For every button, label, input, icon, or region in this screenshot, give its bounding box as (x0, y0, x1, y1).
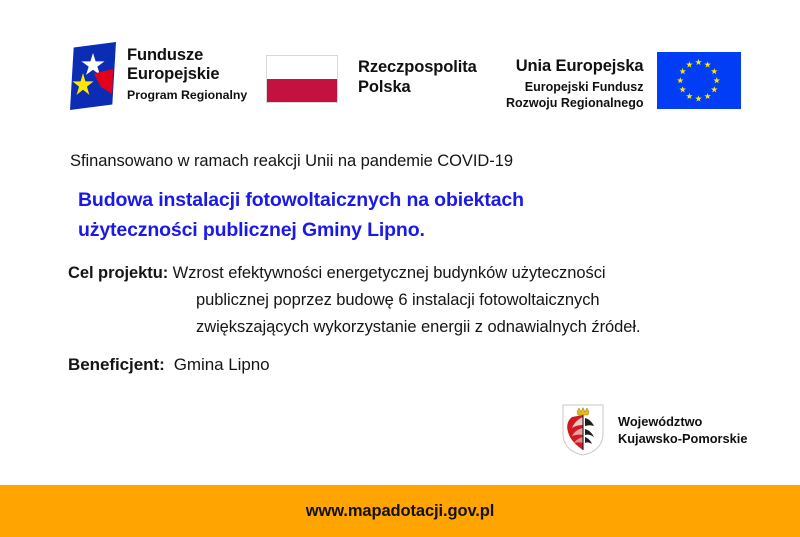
kujawsko-pomorskie-wordmark: Województwo Kujawsko-Pomorskie (618, 413, 747, 447)
voivodeship-line-2: Kujawsko-Pomorskie (618, 430, 747, 447)
ue-line-1: Unia Europejska (506, 56, 644, 76)
eu-star-icon (695, 59, 702, 66)
eu-star-icon (704, 93, 711, 100)
eu-star-icon (679, 86, 686, 93)
fe-line-2: Europejskie (127, 65, 247, 84)
eu-star-icon (677, 77, 684, 84)
fe-line-3: Program Regionalny (127, 87, 247, 103)
kujawsko-pomorskie-coat-of-arms-icon (562, 404, 604, 456)
project-goal-line-2: publicznej poprzez budowę 6 instalacji f… (196, 287, 748, 314)
eu-star-icon (686, 93, 693, 100)
eu-star-icon (695, 95, 702, 102)
project-goal-label: Cel projektu: (68, 264, 168, 282)
page-title: Budowa instalacji fotowoltaicznych na ob… (78, 185, 678, 245)
kujawsko-pomorskie-logo: Województwo Kujawsko-Pomorskie (562, 404, 747, 456)
funding-logo-strip: Fundusze Europejskie Program Regionalny … (0, 0, 800, 140)
eu-star-icon (686, 61, 693, 68)
eu-star-icon (713, 77, 720, 84)
eu-star-icon (679, 68, 686, 75)
rp-line-1: Rzeczpospolita (358, 58, 477, 78)
rzeczpospolita-polska-wordmark: Rzeczpospolita Polska (358, 58, 477, 97)
project-goal-block: Cel projektu: Wzrost efektywności energe… (68, 260, 748, 341)
ue-line-3: Rozwoju Regionalnego (506, 95, 644, 111)
eu-star-icon (704, 61, 711, 68)
ue-line-2: Europejski Fundusz (506, 79, 644, 95)
unia-europejska-wordmark: Unia Europejska Europejski Fundusz Rozwo… (506, 56, 644, 111)
fe-line-1: Fundusze (127, 46, 247, 65)
fundusze-europejskie-star-mark-icon (70, 42, 116, 110)
rp-line-2: Polska (358, 78, 477, 98)
project-goal-line-3: zwiększających wykorzystanie energii z o… (196, 314, 748, 341)
footer-website-url[interactable]: www.mapadotacji.gov.pl (306, 502, 495, 521)
beneficiary-label: Beneficjent: (68, 355, 165, 375)
fundusze-europejskie-logo: Fundusze Europejskie Program Regionalny (70, 42, 247, 110)
covid-funding-note: Sfinansowano w ramach reakcji Unii na pa… (70, 152, 513, 171)
beneficiary-value: Gmina Lipno (174, 355, 270, 375)
voivodeship-line-1: Województwo (618, 413, 747, 430)
rzeczpospolita-polska-logo: Rzeczpospolita Polska (266, 55, 477, 103)
european-union-flag-icon (657, 52, 741, 109)
eu-star-icon (711, 86, 718, 93)
eu-star-icon (711, 68, 718, 75)
project-title-line-2: użyteczności publicznej Gminy Lipno. (78, 215, 678, 245)
poland-flag-icon (266, 55, 338, 103)
project-goal-line-1: Wzrost efektywności energetycznej budynk… (173, 264, 606, 282)
footer-bar: www.mapadotacji.gov.pl (0, 485, 800, 537)
unia-europejska-logo: Unia Europejska Europejski Fundusz Rozwo… (506, 52, 741, 111)
project-title-line-1: Budowa instalacji fotowoltaicznych na ob… (78, 185, 678, 215)
beneficiary-row: Beneficjent: Gmina Lipno (68, 355, 270, 375)
fundusze-europejskie-wordmark: Fundusze Europejskie Program Regionalny (127, 42, 247, 103)
